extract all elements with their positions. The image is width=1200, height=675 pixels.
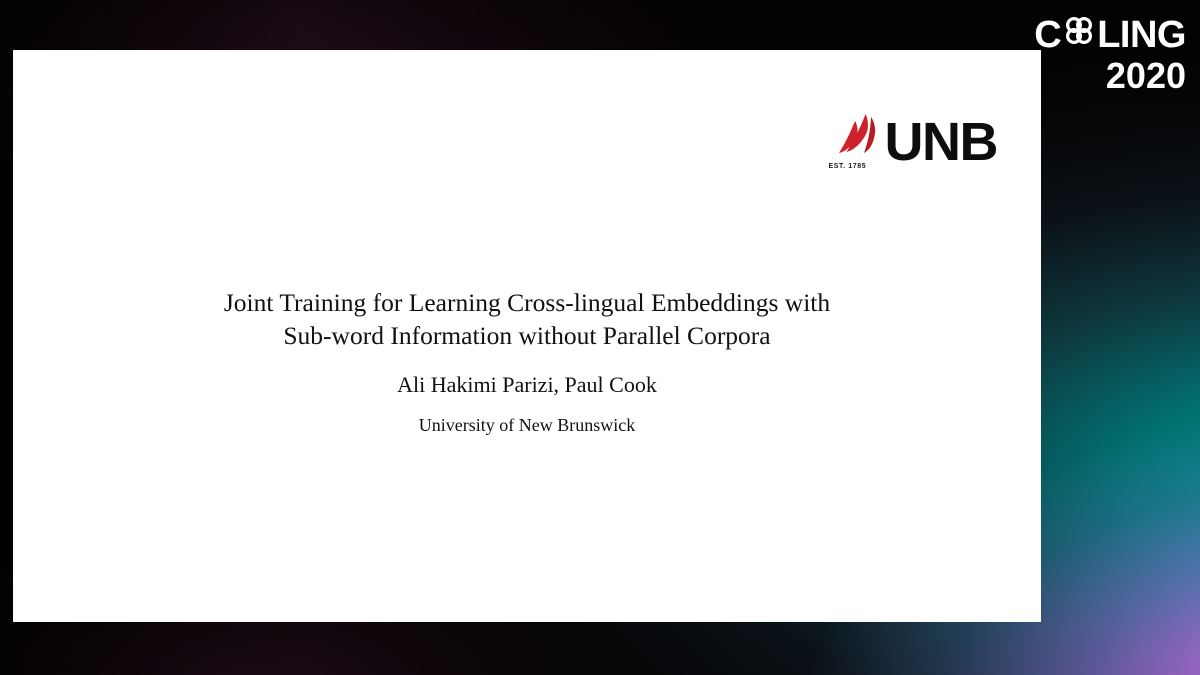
coling-wordmark: C LING xyxy=(1034,14,1186,55)
unb-logo: EST. 1785 UNB xyxy=(835,112,998,168)
coling-year: 2020 xyxy=(1034,58,1186,94)
coling-letter-c: C xyxy=(1034,16,1061,54)
coling-letters-ling: LING xyxy=(1097,16,1186,54)
unb-wordmark: UNB xyxy=(885,118,998,168)
slide-affiliation: University of New Brunswick xyxy=(13,415,1041,436)
slide-title: Joint Training for Learning Cross-lingua… xyxy=(13,286,1041,352)
coling-interlocking-rings-icon xyxy=(1062,14,1096,55)
slide-title-line-1: Joint Training for Learning Cross-lingua… xyxy=(83,286,971,319)
coling-conference-logo: C LING 2020 xyxy=(1034,14,1186,94)
presentation-video-frame: C LING 2020 xyxy=(0,0,1200,675)
presentation-slide: EST. 1785 UNB Joint Training for Learnin… xyxy=(13,50,1041,622)
slide-title-line-2: Sub-word Information without Parallel Co… xyxy=(83,319,971,352)
unb-established-text: EST. 1785 xyxy=(829,163,867,170)
slide-authors: Ali Hakimi Parizi, Paul Cook xyxy=(13,372,1041,398)
unb-sail-icon: EST. 1785 xyxy=(835,112,883,168)
